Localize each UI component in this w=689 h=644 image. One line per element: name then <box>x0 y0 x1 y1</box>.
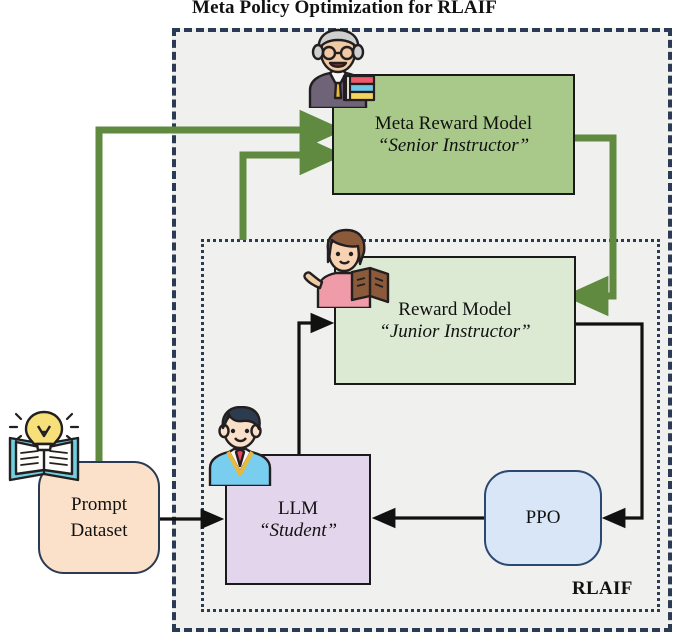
node-ppo-title: PPO <box>526 507 561 529</box>
diagram-canvas: Meta Policy Optimization for RLAIF RLAIF <box>0 0 689 644</box>
book-lightbulb-icon <box>4 408 84 488</box>
teacher-icon <box>302 228 390 308</box>
node-prompt-dataset-line2: Dataset <box>71 518 128 544</box>
node-llm-title: LLM <box>278 498 318 520</box>
node-llm-subtitle: “Student” <box>259 520 337 542</box>
rlaif-label: RLAIF <box>572 578 633 600</box>
node-reward-model-subtitle: “Junior Instructor” <box>379 321 531 343</box>
professor-icon <box>292 26 380 108</box>
node-ppo[interactable]: PPO <box>484 470 602 566</box>
node-reward-model-title: Reward Model <box>398 299 511 321</box>
node-meta-reward-model-title: Meta Reward Model <box>375 113 532 135</box>
figure-title: Meta Policy Optimization for RLAIF <box>0 0 689 19</box>
student-icon <box>202 406 278 486</box>
node-meta-reward-model-subtitle: “Senior Instructor” <box>378 135 530 157</box>
node-prompt-dataset-line1: Prompt <box>71 492 127 518</box>
